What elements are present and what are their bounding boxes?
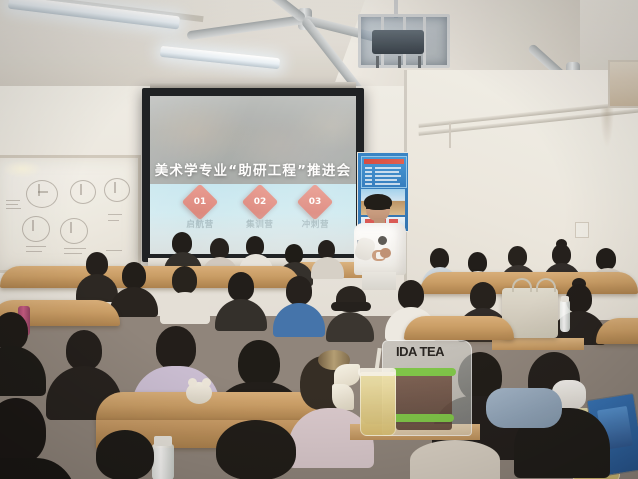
slide-step-number: 02 <box>247 189 273 215</box>
presenter-lower-body <box>362 272 396 290</box>
presenter-hair <box>364 194 392 210</box>
bench-row <box>404 316 514 340</box>
plush-ear <box>188 378 197 387</box>
whiteboard <box>0 155 141 273</box>
slide-step-number: 01 <box>187 189 213 215</box>
presenter-hand <box>380 248 391 258</box>
presenter <box>352 196 408 288</box>
bottle-cap <box>561 296 569 302</box>
water-bottle <box>560 300 570 332</box>
slide-step-number: 03 <box>302 189 328 215</box>
wall-stain <box>600 108 614 148</box>
whiteboard-glare <box>2 160 42 178</box>
projection-screen: 美术学专业“助研工程”推进会 01 02 03 启航营 集训营 冲刺营 <box>150 96 356 254</box>
cup-holder-strap <box>390 368 456 376</box>
bucket-hat-icon <box>331 302 371 311</box>
projector-stem <box>398 56 401 68</box>
plastic-bag-text: IDA TEA <box>396 346 448 368</box>
bench-row <box>596 318 638 344</box>
cable-drop <box>449 122 451 148</box>
plush-ear <box>202 378 211 387</box>
wall-socket-icon <box>575 222 589 238</box>
slide-title: 美术学专业“助研工程”推进会 <box>150 159 356 179</box>
bottle-cap <box>154 436 172 446</box>
hair-bow-icon <box>332 384 354 410</box>
shirt-graphic <box>378 236 387 245</box>
poster-schedule-board <box>361 156 407 188</box>
poster-header-bar <box>364 159 404 164</box>
classroom-photo: 美术学专业“助研工程”推进会 01 02 03 启航营 集训营 冲刺营 <box>0 0 638 479</box>
drink-cup <box>360 372 396 436</box>
tote-handle <box>512 278 532 292</box>
projector-stem <box>376 56 379 68</box>
denim-sleeve <box>486 388 562 428</box>
tote-handle <box>536 278 556 292</box>
water-bottle <box>152 444 174 479</box>
wall-frame <box>608 60 638 108</box>
projector-icon <box>372 30 424 54</box>
bench-row <box>0 266 300 288</box>
hair-bow-icon <box>334 364 360 386</box>
projector-stem <box>418 56 421 68</box>
cup-holder-strap <box>392 414 454 422</box>
